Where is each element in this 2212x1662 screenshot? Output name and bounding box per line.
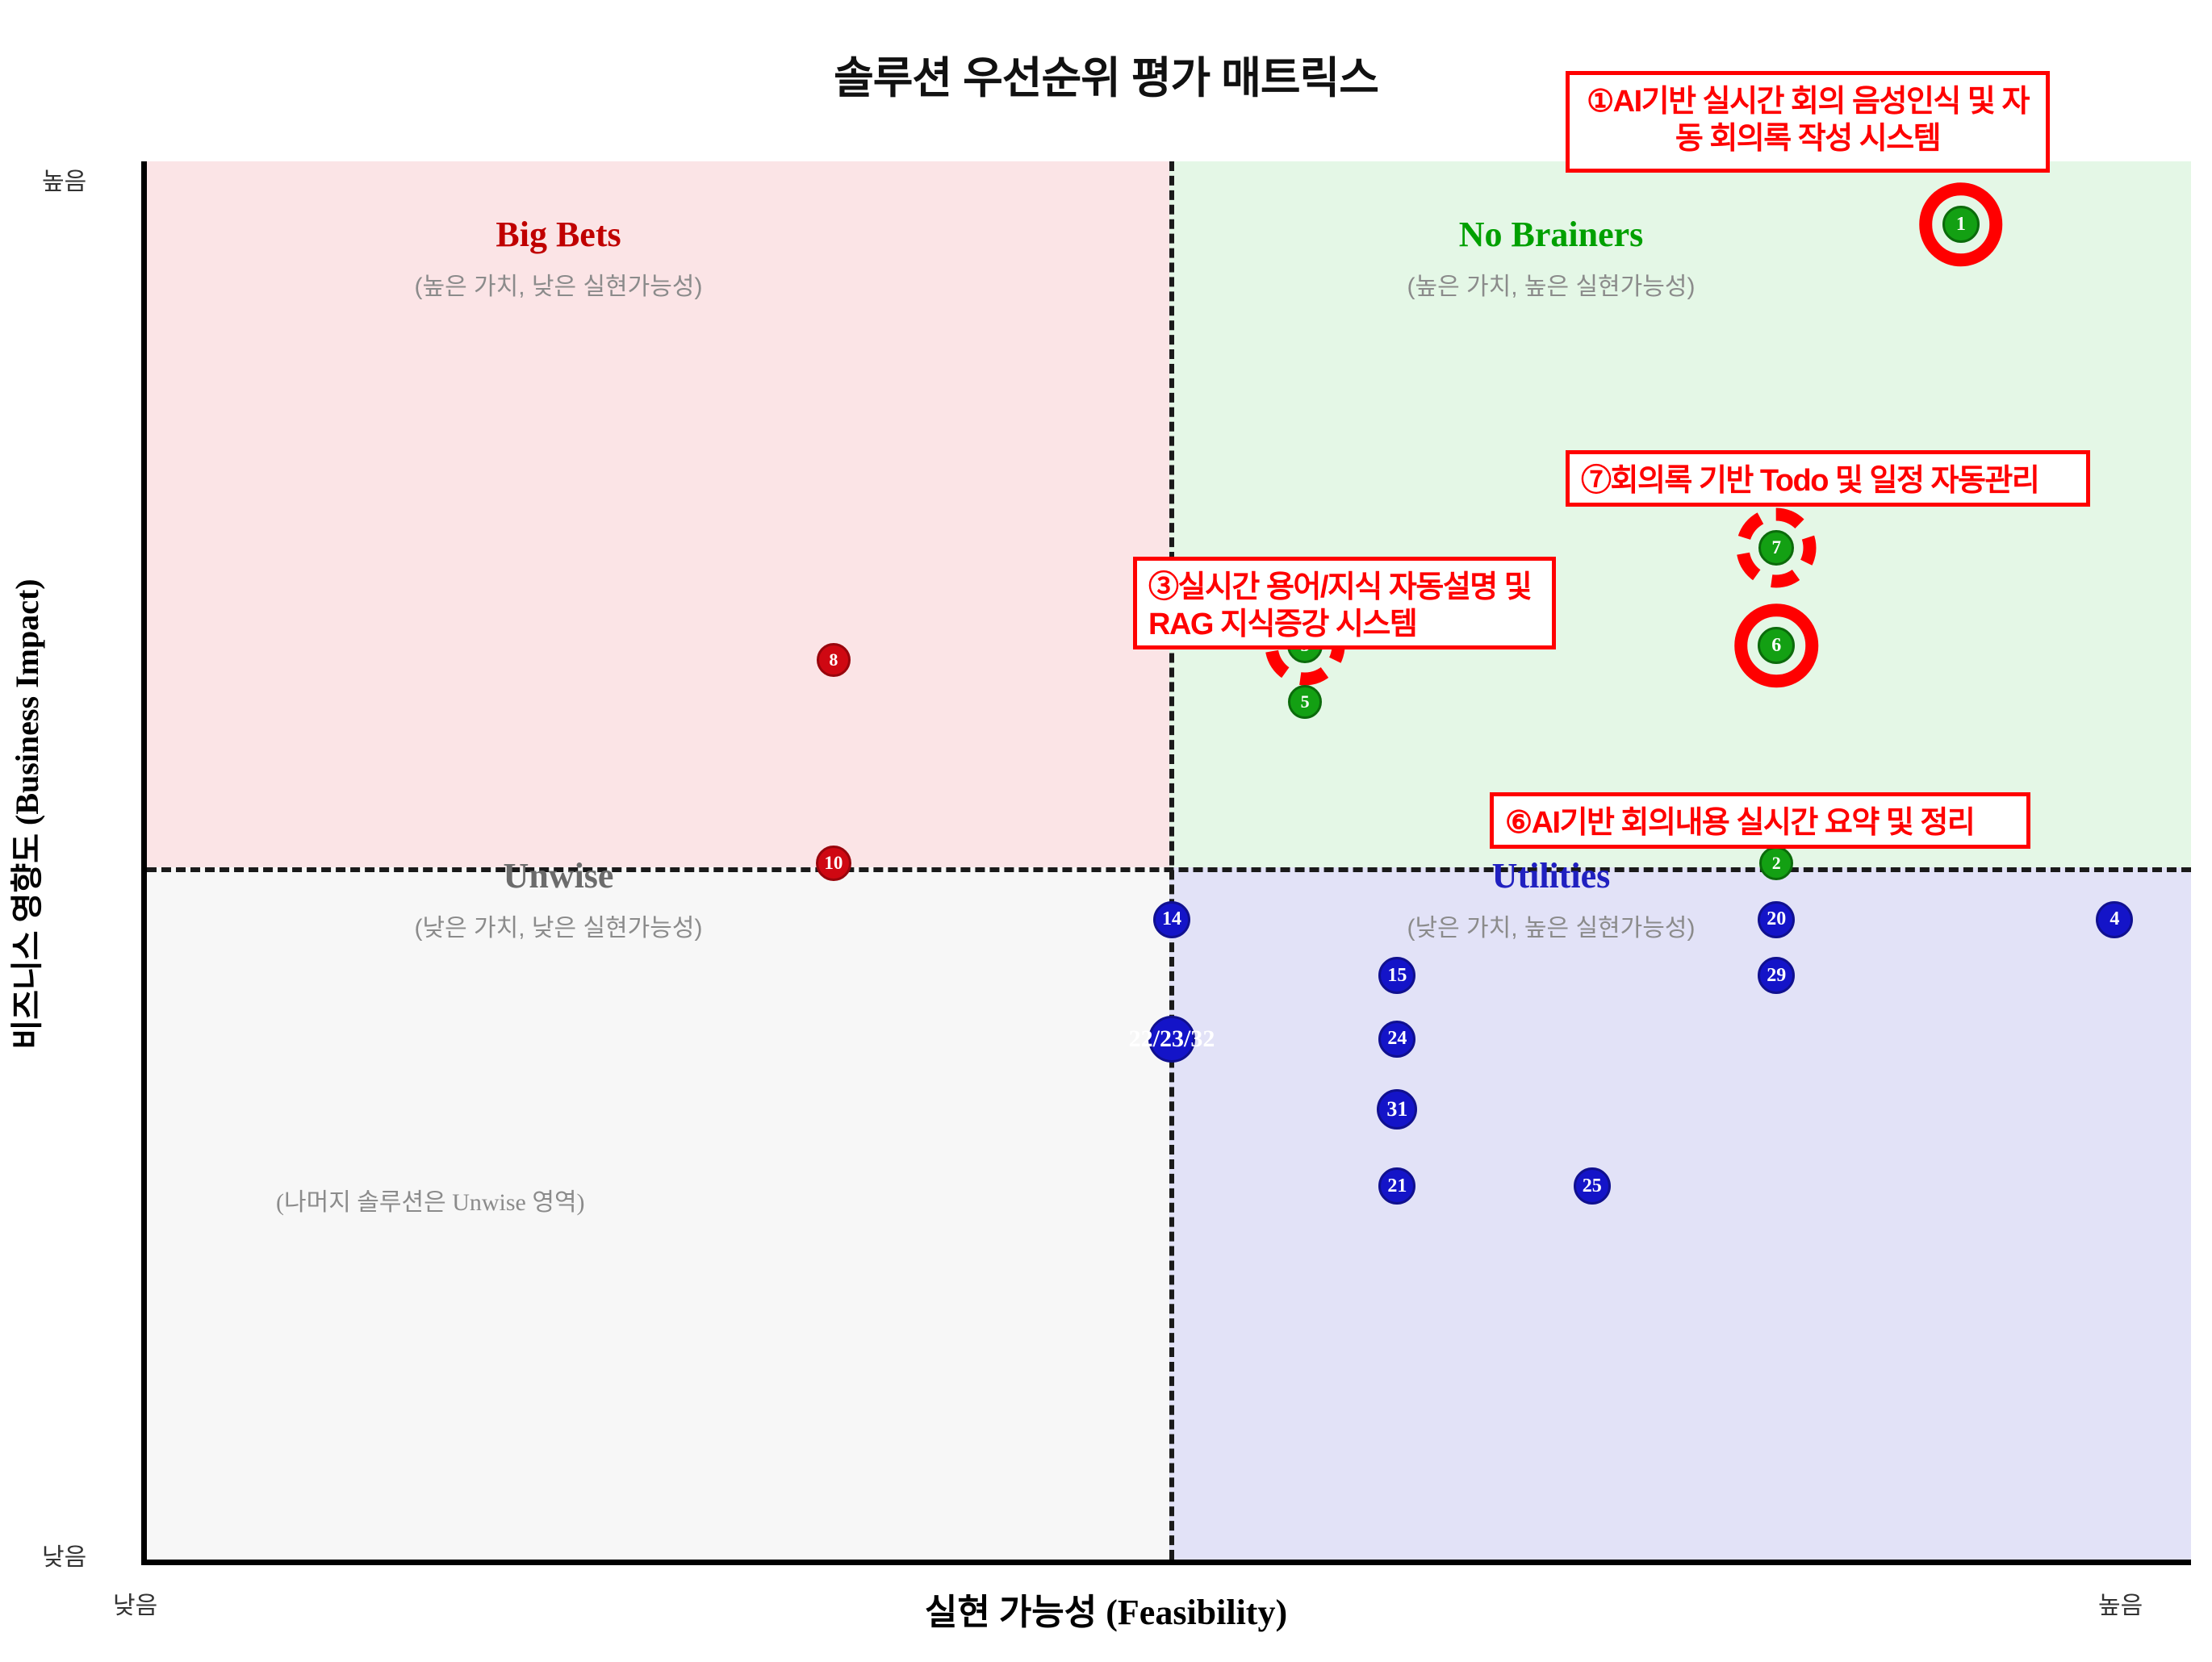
- y-axis-high-label: 높음: [42, 161, 86, 197]
- data-point-20[interactable]: 20: [1758, 901, 1795, 938]
- quadrant-divider-vertical: [1169, 161, 1174, 1560]
- data-point-24[interactable]: 24: [1378, 1021, 1415, 1058]
- quadrant-title-no-brainers: No Brainers: [1236, 214, 1866, 255]
- callout-solution-7: ⑦회의록 기반 Todo 및 일정 자동관리: [1566, 450, 2090, 507]
- data-point-2[interactable]: 2: [1759, 846, 1793, 880]
- x-axis-title: 실현 가능성 (Feasibility): [0, 1583, 2212, 1635]
- callout-solution-6: ⑥AI기반 회의내용 실시간 요약 및 정리: [1490, 792, 2030, 849]
- quadrant-label-no-brainers: No Brainers (높은 가치, 높은 실현가능성): [1236, 214, 1866, 302]
- callout-solution-1: ①AI기반 실시간 회의 음성인식 및 자동 회의록 작성 시스템: [1566, 71, 2050, 173]
- data-point-14[interactable]: 14: [1153, 901, 1190, 938]
- y-axis-title: 비즈니스 영향도 (Business Impact): [1, 483, 48, 1145]
- quadrant-title-unwise: Unwise: [244, 855, 873, 896]
- quadrant-subtitle-no-brainers: (높은 가치, 높은 실현가능성): [1236, 266, 1866, 302]
- plot-area: Big Bets (높은 가치, 낮은 실현가능성) No Brainers (…: [141, 161, 2191, 1565]
- data-point-29[interactable]: 29: [1758, 957, 1795, 994]
- quadrant-utilities: [1169, 867, 2192, 1560]
- data-point-15[interactable]: 15: [1378, 957, 1415, 994]
- data-point-25[interactable]: 25: [1574, 1167, 1611, 1205]
- data-point-10[interactable]: 10: [816, 846, 851, 881]
- data-point-22/23/32[interactable]: 22/23/32: [1148, 1016, 1195, 1063]
- quadrant-title-big-bets: Big Bets: [244, 214, 873, 255]
- x-axis-high-label: 높음: [2098, 1585, 2143, 1621]
- quadrant-subtitle-unwise: (낮은 가치, 낮은 실현가능성): [244, 908, 873, 943]
- data-point-7[interactable]: 7: [1758, 530, 1794, 566]
- plot-inner: Big Bets (높은 가치, 낮은 실현가능성) No Brainers (…: [147, 161, 2191, 1560]
- x-axis-low-label: 낮음: [113, 1585, 157, 1621]
- y-axis-low-label: 낮음: [42, 1537, 86, 1572]
- remainder-note: (나머지 솔루션은 Unwise 영역): [276, 1182, 585, 1217]
- data-point-31[interactable]: 31: [1377, 1089, 1417, 1130]
- quadrant-label-big-bets: Big Bets (높은 가치, 낮은 실현가능성): [244, 214, 873, 302]
- data-point-5[interactable]: 5: [1288, 685, 1322, 719]
- data-point-21[interactable]: 21: [1378, 1167, 1415, 1205]
- callout-solution-3: ③실시간 용어/지식 자동설명 및 RAG 지식증강 시스템: [1133, 557, 1556, 649]
- quadrant-subtitle-big-bets: (높은 가치, 낮은 실현가능성): [244, 266, 873, 302]
- data-point-8[interactable]: 8: [817, 643, 851, 677]
- data-point-1[interactable]: 1: [1942, 206, 1980, 243]
- data-point-6[interactable]: 6: [1758, 627, 1795, 664]
- data-point-4[interactable]: 4: [2096, 901, 2133, 938]
- quadrant-label-unwise: Unwise (낮은 가치, 낮은 실현가능성): [244, 855, 873, 943]
